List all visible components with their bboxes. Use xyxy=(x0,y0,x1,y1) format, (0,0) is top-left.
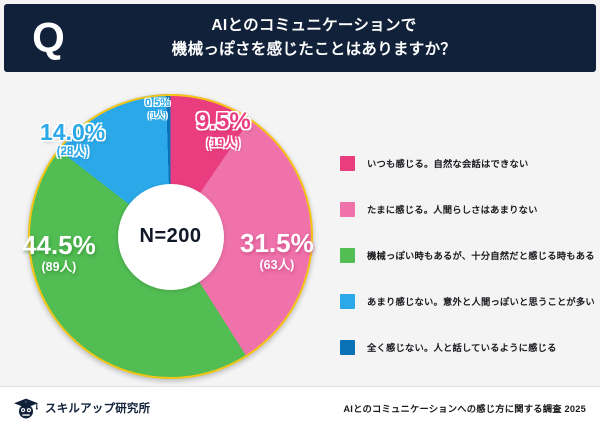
infographic-page: Q AIとのコミュニケーションで 機械っぽさを感じたことはありますか？ N=20… xyxy=(0,0,600,427)
legend-label-mixed: 機械っぽい時もあるが、十分自然だと感じる時もある xyxy=(367,248,595,262)
chart-body: N=200 9.5% (19人) 31.5% (63人) 44.5% (89人)… xyxy=(0,74,600,386)
legend-label-always: いつも感じる。自然な会話はできない xyxy=(367,156,528,170)
legend-swatch-never xyxy=(340,340,355,355)
slice-percent-never: 0.5% xyxy=(145,98,170,109)
legend-label-never: 全く感じない。人と話しているように感じる xyxy=(367,340,557,354)
legend-swatch-always xyxy=(340,156,355,171)
sample-size-label: N=200 xyxy=(140,225,202,248)
survey-source-note: AIとのコミュニケーションへの感じ方に関する調査 2025 xyxy=(343,401,586,415)
slice-percent-mixed: 44.5% xyxy=(22,232,96,258)
slice-percent-always: 9.5% xyxy=(196,110,251,134)
legend-item-always: いつも感じる。自然な会話はできない xyxy=(340,154,590,172)
page-footer: スキルアップ研究所 AIとのコミュニケーションへの感じ方に関する調査 2025 xyxy=(0,386,600,428)
legend-item-mixed: 機械っぽい時もあるが、十分自然だと感じる時もある xyxy=(340,246,590,264)
slice-count-rarely: (28人) xyxy=(40,147,105,159)
slice-percent-rarely: 14.0% xyxy=(40,121,105,144)
slice-count-never: (1人) xyxy=(145,111,170,120)
slice-label-rarely: 14.0% (28人) xyxy=(40,121,105,159)
question-line-2: 機械っぽさを感じたことはありますか？ xyxy=(74,38,554,62)
question-mark-badge: Q xyxy=(4,4,74,72)
legend-swatch-mixed xyxy=(340,248,355,263)
slice-label-sometimes: 31.5% (63人) xyxy=(240,230,314,272)
legend-item-rarely: あまり感じない。意外と人間っぽいと思うことが多い xyxy=(340,292,590,310)
legend-item-never: 全く感じない。人と話しているように感じる xyxy=(340,338,590,356)
brand-name: スキルアップ研究所 xyxy=(45,400,150,416)
slice-count-mixed: (89人) xyxy=(22,261,96,274)
question-header: Q AIとのコミュニケーションで 機械っぽさを感じたことはありますか？ xyxy=(4,4,596,72)
slice-percent-sometimes: 31.5% xyxy=(240,230,314,256)
legend-item-sometimes: たまに感じる。人間らしさはあまりない xyxy=(340,200,590,218)
donut-center-hole: N=200 xyxy=(118,184,224,290)
question-line-1: AIとのコミュニケーションで xyxy=(74,14,554,38)
slice-label-never: 0.5% (1人) xyxy=(145,98,170,120)
legend-label-sometimes: たまに感じる。人間らしさはあまりない xyxy=(367,202,538,216)
legend-label-rarely: あまり感じない。意外と人間っぽいと思うことが多い xyxy=(367,294,595,308)
chart-legend: いつも感じる。自然な会話はできない たまに感じる。人間らしさはあまりない 機械っ… xyxy=(340,154,590,356)
brand-logo: スキルアップ研究所 xyxy=(12,396,150,420)
slice-count-always: (19人) xyxy=(196,137,251,149)
donut-chart: N=200 9.5% (19人) 31.5% (63人) 44.5% (89人)… xyxy=(18,88,318,384)
graduation-cap-icon xyxy=(12,396,40,420)
legend-swatch-rarely xyxy=(340,294,355,309)
slice-label-mixed: 44.5% (89人) xyxy=(22,232,96,274)
legend-swatch-sometimes xyxy=(340,202,355,217)
page-title: AIとのコミュニケーションで 機械っぽさを感じたことはありますか？ xyxy=(74,14,596,62)
slice-count-sometimes: (63人) xyxy=(240,259,314,272)
slice-label-always: 9.5% (19人) xyxy=(196,110,251,149)
